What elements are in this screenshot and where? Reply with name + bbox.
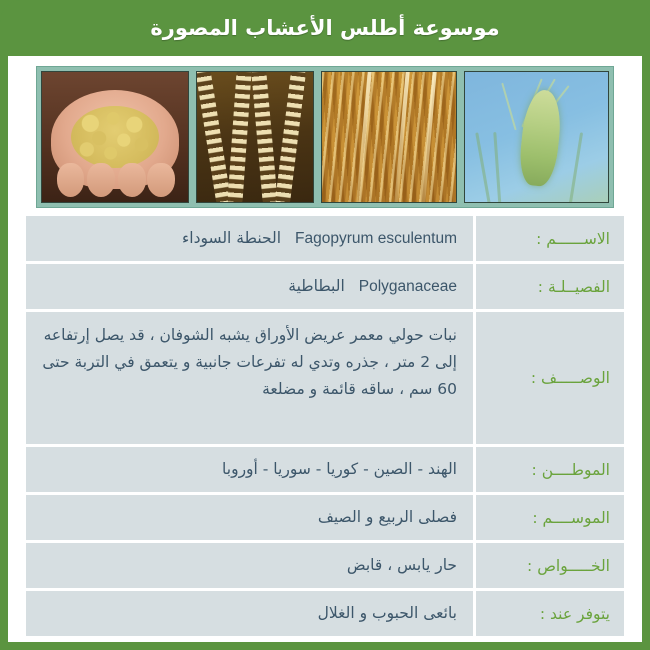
value-name: Fagopyrum esculentum الحنطة السوداء [26, 216, 473, 261]
value-availability: بائعى الحبوب و الغلال [26, 591, 473, 636]
photo-green-wheat-spike[interactable] [464, 71, 609, 203]
photo-seeds-in-hands[interactable] [41, 71, 189, 203]
seed-pile [71, 106, 159, 168]
table-row-habitat: الموطــــن : الهند - الصين - كوريا - سور… [26, 447, 624, 492]
gallery-wrapper [8, 56, 642, 216]
value-name-arabic: الحنطة السوداء [182, 225, 281, 252]
value-name-latin: Fagopyrum esculentum [295, 225, 457, 252]
value-season: فصلى الربيع و الصيف [26, 495, 473, 540]
table-row-description: الوصـــــف : نبات حولي معمر عريض الأوراق… [26, 312, 624, 444]
field-texture [322, 72, 456, 202]
value-habitat: الهند - الصين - كوريا - سوريا - أوروبا [26, 447, 473, 492]
photo-gallery [36, 66, 614, 208]
value-family-latin: Polyganaceae [359, 273, 457, 300]
table-row-availability: يتوفر عند : بائعى الحبوب و الغلال [26, 591, 624, 636]
finger [87, 163, 115, 197]
value-description: نبات حولي معمر عريض الأوراق يشبه الشوفان… [26, 312, 473, 444]
label-properties: الخـــــواص : [476, 543, 624, 588]
label-description: الوصـــــف : [476, 312, 624, 444]
page-title-text: موسوعة أطلس الأعشاب المصورة [150, 16, 499, 40]
info-table: الاســــــم : Fagopyrum esculentum الحنط… [8, 216, 642, 642]
label-family: الفصيــلـة : [476, 264, 624, 309]
photo-golden-wheat-field[interactable] [321, 71, 457, 203]
value-family-arabic: البطاطية [288, 273, 344, 300]
table-row-name: الاســــــم : Fagopyrum esculentum الحنط… [26, 216, 624, 261]
table-row-properties: الخـــــواص : حار يابس ، قابض [26, 543, 624, 588]
table-row-family: الفصيــلـة : Polyganaceae البطاطية [26, 264, 624, 309]
card-body: الاســــــم : Fagopyrum esculentum الحنط… [8, 56, 642, 642]
label-name: الاســــــم : [476, 216, 624, 261]
photo-wheat-ears-closeup[interactable] [196, 71, 314, 203]
value-properties: حار يابس ، قابض [26, 543, 473, 588]
finger [147, 163, 175, 197]
finger [57, 163, 85, 197]
label-availability: يتوفر عند : [476, 591, 624, 636]
label-habitat: الموطــــن : [476, 447, 624, 492]
herb-card: موسوعة أطلس الأعشاب المصورة [0, 0, 650, 650]
finger [118, 163, 146, 197]
table-row-season: الموســــم : فصلى الربيع و الصيف [26, 495, 624, 540]
page-title: موسوعة أطلس الأعشاب المصورة [8, 0, 642, 56]
label-season: الموســــم : [476, 495, 624, 540]
value-family: Polyganaceae البطاطية [26, 264, 473, 309]
